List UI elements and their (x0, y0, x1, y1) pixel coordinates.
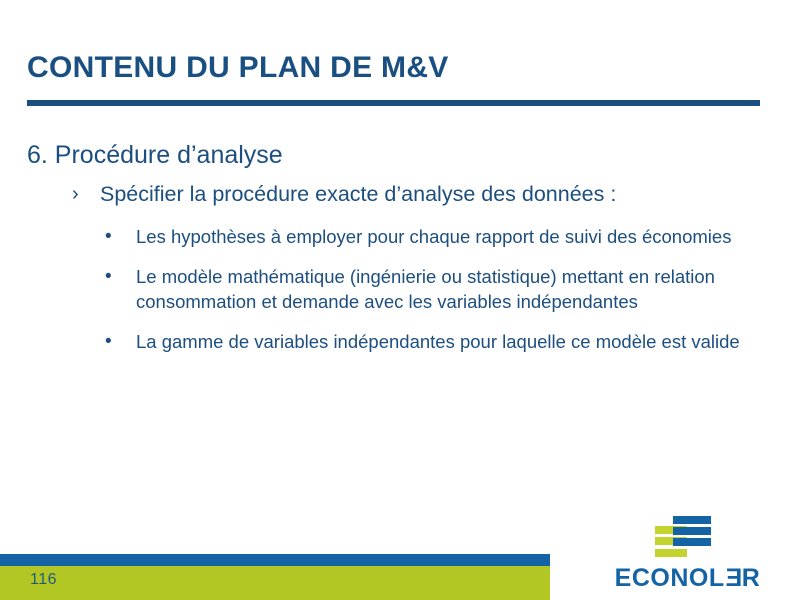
list-item: • Le modèle mathématique (ingénierie ou … (101, 265, 756, 330)
footer-blue-bar (0, 554, 550, 566)
econoler-logo: ECONOLER (600, 516, 775, 596)
wordmark-part2: R (742, 564, 761, 592)
list-item-label: Le modèle mathématique (ingénierie ou st… (136, 266, 715, 312)
chevron-right-icon: › (72, 181, 79, 207)
bullet-level2-label: Spécifier la procédure exacte d’analyse … (100, 182, 616, 206)
list-item: • Les hypothèses à employer pour chaque … (101, 225, 756, 265)
wordmark-mirrored-e: E (725, 564, 742, 593)
list-item-label: La gamme de variables indépendantes pour… (136, 331, 740, 352)
footer-green-band (0, 566, 550, 600)
wordmark-part1: ECONOL (615, 564, 725, 592)
bullet-dot-icon: • (105, 329, 112, 355)
slide-number: 116 (30, 571, 57, 589)
bullet-dot-icon: • (105, 224, 112, 250)
list-item: • La gamme de variables indépendantes po… (101, 330, 756, 370)
econoler-logomark-icon (655, 516, 717, 562)
title-underline-rule (27, 100, 760, 106)
body-heading: 6. Procédure d’analyse (27, 140, 800, 181)
list-item-label: Les hypothèses à employer pour chaque ra… (136, 226, 731, 247)
bullet-dot-icon: • (105, 264, 112, 290)
econoler-wordmark: ECONOLER (600, 564, 775, 593)
slide-body: 6. Procédure d’analyse › Spécifier la pr… (0, 140, 800, 370)
bullet-level3-list: • Les hypothèses à employer pour chaque … (0, 225, 800, 370)
slide-canvas: CONTENU DU PLAN DE M&V 6. Procédure d’an… (0, 0, 800, 600)
page-title: CONTENU DU PLAN DE M&V (27, 52, 449, 84)
bullet-level2: › Spécifier la procédure exacte d’analys… (72, 181, 800, 215)
